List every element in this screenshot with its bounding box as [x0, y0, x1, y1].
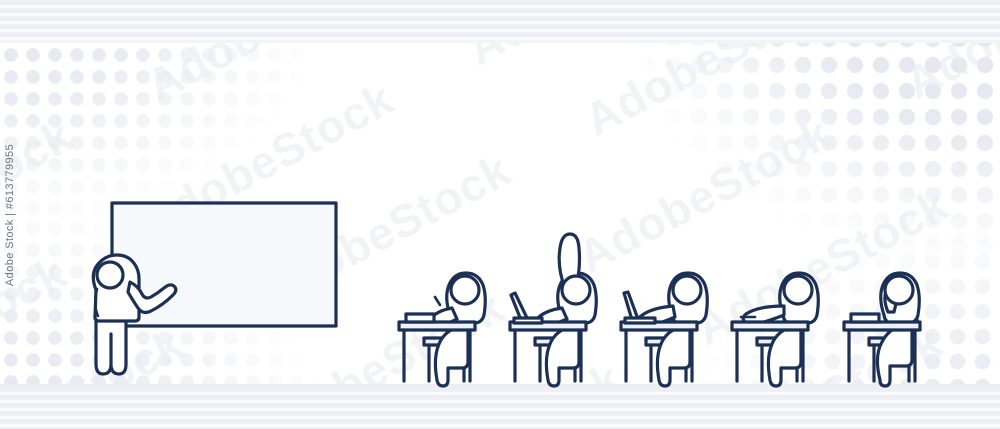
- student-5: [844, 273, 920, 386]
- student-1: [399, 273, 485, 386]
- student-body-2: [537, 234, 596, 386]
- laptop-3: [624, 292, 655, 323]
- illustration-canvas: AdobeStockAdobeStockAdobeStockAdobeStock…: [0, 0, 1000, 429]
- stock-credit-label: Adobe Stock | #613779955: [4, 143, 16, 285]
- laptop-2: [511, 293, 542, 323]
- student-2: [510, 234, 596, 386]
- line-art-illustration: [0, 0, 1000, 429]
- student-4: [732, 273, 818, 386]
- student-3: [621, 273, 707, 386]
